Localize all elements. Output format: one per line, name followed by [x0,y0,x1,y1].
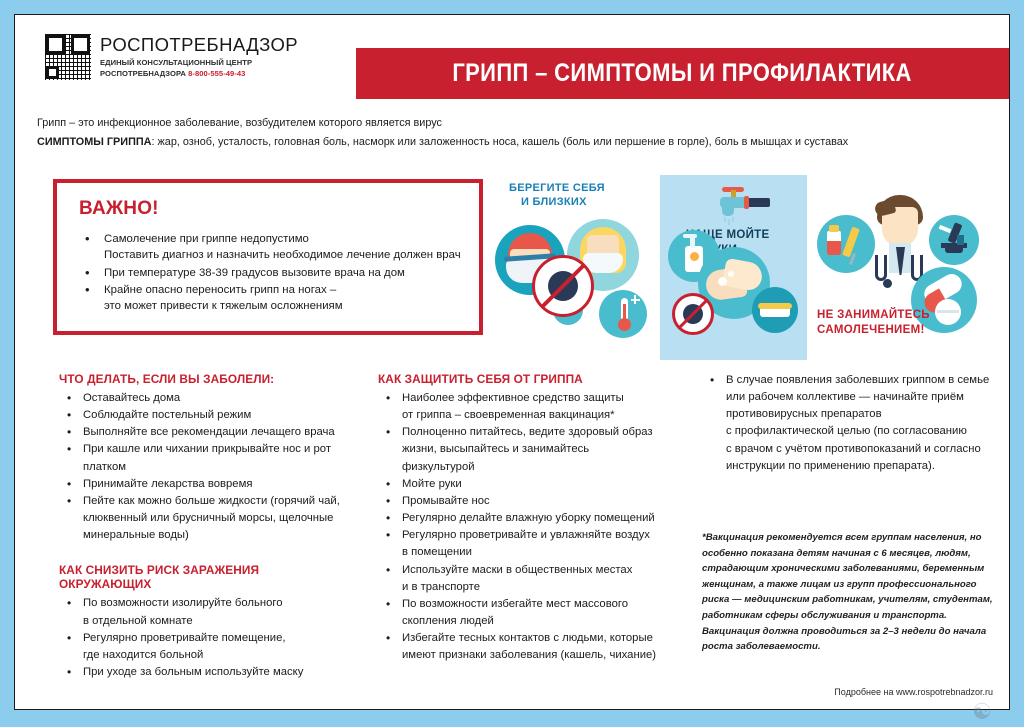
list-item: Полноценно питайтесь, ведите здоровый об… [378,424,683,475]
illustration-strip: БЕРЕГИТЕ СЕБЯ И БЛИЗКИХ [495,175,995,360]
list-item: Пейте как можно больше жидкости (горячий… [59,493,359,544]
list-item: Используйте маски в общественных местахи… [378,562,683,596]
symptoms-text: : жар, озноб, усталость, головная боль, … [152,136,849,148]
panel-a-caption: БЕРЕГИТЕ СЕБЯ И БЛИЗКИХ [509,181,605,209]
logo-title: РОСПОТРЕБНАДЗОР [100,35,298,54]
logo-subtitle: ЕДИНЫЙ КОНСУЛЬТАЦИОННЫЙ ЦЕНТР РОСПОТРЕБН… [100,58,298,80]
panel-c-caption: НЕ ЗАНИМАЙТЕСЬ САМОЛЕЧЕНИЕМ! [817,308,930,337]
page-title: ГРИПП – СИМПТОМЫ И ПРОФИЛАКТИКА [453,59,912,88]
soap-bar-icon [752,287,798,333]
intro-block: Грипп – это инфекционное заболевание, во… [37,115,991,151]
list-item: По возможности избегайте мест массовогос… [378,596,683,630]
list-item: Принимайте лекарства вовремя [59,476,359,493]
vaccination-footnote: *Вакцинация рекомендуется всем группам н… [702,530,1002,655]
list-item: Выполняйте все рекомендации лечащего вра… [59,424,359,441]
illustration-protect-yourself: БЕРЕГИТЕ СЕБЯ И БЛИЗКИХ [495,175,660,360]
caption-line: БЕРЕГИТЕ СЕБЯ [509,182,605,194]
what-to-do-list: Оставайтесь дома Соблюдайте постельный р… [59,390,359,544]
no-virus-icon [532,255,594,317]
protect-list: Наиболее эффективное средство защитыот г… [378,390,683,665]
list-item: По возможности изолируйте больногов отде… [59,595,359,629]
no-virus-icon [672,293,714,335]
column-antivirals-note: В случае появления заболевших гриппом в … [702,372,1002,655]
double-headed-eagle-emblem: ☯ [969,701,995,727]
section-title: КАК ЗАЩИТИТЬ СЕБЯ ОТ ГРИППА [378,372,674,386]
poster-header: РОСПОТРЕБНАДЗОР ЕДИНЫЙ КОНСУЛЬТАЦИОННЫЙ … [15,15,1009,101]
antivirals-list: В случае появления заболевших гриппом в … [702,372,1002,475]
important-title: ВАЖНО! [79,198,479,220]
caption-line: САМОЛЕЧЕНИЕМ! [817,324,925,336]
section-title: КАК СНИЗИТЬ РИСК ЗАРАЖЕНИЯ ОКРУЖАЮЩИХ [59,563,350,591]
caption-line: НЕ ЗАНИМАЙТЕСЬ [817,309,930,321]
list-item: При уходе за больным используйте маску [59,664,359,681]
logo-sub-line2: РОСПОТРЕБНАДЗОРА [100,69,186,78]
section-title: ЧТО ДЕЛАТЬ, ЕСЛИ ВЫ ЗАБОЛЕЛИ: [59,372,350,386]
list-item: Регулярно делайте влажную уборку помещен… [378,510,683,527]
symptoms-label: СИМПТОМЫ ГРИППА [37,136,152,148]
syringe-icon [842,227,860,258]
list-item: Избегайте тесных контактов с людьми, кот… [378,630,683,664]
column-how-to-protect: КАК ЗАЩИТИТЬ СЕБЯ ОТ ГРИППА Наиболее эфф… [378,372,683,665]
important-box: ВАЖНО! Самолечение при гриппе недопустим… [53,179,483,335]
caption-line: И БЛИЗКИХ [521,195,587,209]
intro-symptoms: СИМПТОМЫ ГРИППА: жар, озноб, усталость, … [37,134,953,150]
list-item: Наиболее эффективное средство защитыот г… [378,390,683,424]
list-item: Самолечение при гриппе недопустимоПостав… [79,231,479,264]
vaccine-vial-icon [817,215,875,273]
list-item: Мойте руки [378,476,683,493]
logo-sub-line1: ЕДИНЫЙ КОНСУЛЬТАЦИОННЫЙ ЦЕНТР [100,58,252,67]
qr-code-icon [45,34,91,80]
content-columns: ЧТО ДЕЛАТЬ, ЕСЛИ ВЫ ЗАБОЛЕЛИ: Оставайтес… [37,372,995,679]
important-list: Самолечение при гриппе недопустимоПостав… [79,231,479,314]
footer-link[interactable]: Подробнее на www.rospotrebnadzor.ru [834,687,993,697]
list-item: Регулярно проветривайте и увлажняйте воз… [378,527,683,561]
list-item: В случае появления заболевших гриппом в … [702,372,1002,475]
list-item: При температуре 38-39 градусов вызовите … [79,265,479,281]
intro-definition: Грипп – это инфекционное заболевание, во… [37,115,953,131]
title-band: ГРИПП – СИМПТОМЫ И ПРОФИЛАКТИКА [356,48,1009,99]
illustration-no-self-medication: НЕ ЗАНИМАЙТЕСЬ САМОЛЕЧЕНИЕМ! [813,175,995,360]
list-item: Соблюдайте постельный режим [59,407,359,424]
column-what-to-do: ЧТО ДЕЛАТЬ, ЕСЛИ ВЫ ЗАБОЛЕЛИ: Оставайтес… [59,372,359,681]
poster-canvas: РОСПОТРЕБНАДЗОР ЕДИНЫЙ КОНСУЛЬТАЦИОННЫЙ … [14,14,1010,710]
illustration-wash-hands: ЧАЩЕ МОЙТЕ РУКИ [660,175,807,360]
list-item: Регулярно проветривайте помещение,где на… [59,630,359,664]
rospotrebnadzor-logo: РОСПОТРЕБНАДЗОР ЕДИНЫЙ КОНСУЛЬТАЦИОННЫЙ … [45,34,298,80]
list-item: Оставайтесь дома [59,390,359,407]
list-item: Промывайте нос [378,493,683,510]
thermometer-icon [599,290,647,338]
hotline-phone: 8-800-555-49-43 [188,69,245,78]
reduce-risk-list: По возможности изолируйте больногов отде… [59,595,359,681]
list-item: При кашле или чихании прикрывайте нос и … [59,441,359,475]
microscope-icon [929,215,979,265]
list-item: Крайне опасно переносить грипп на ногах … [79,282,479,315]
